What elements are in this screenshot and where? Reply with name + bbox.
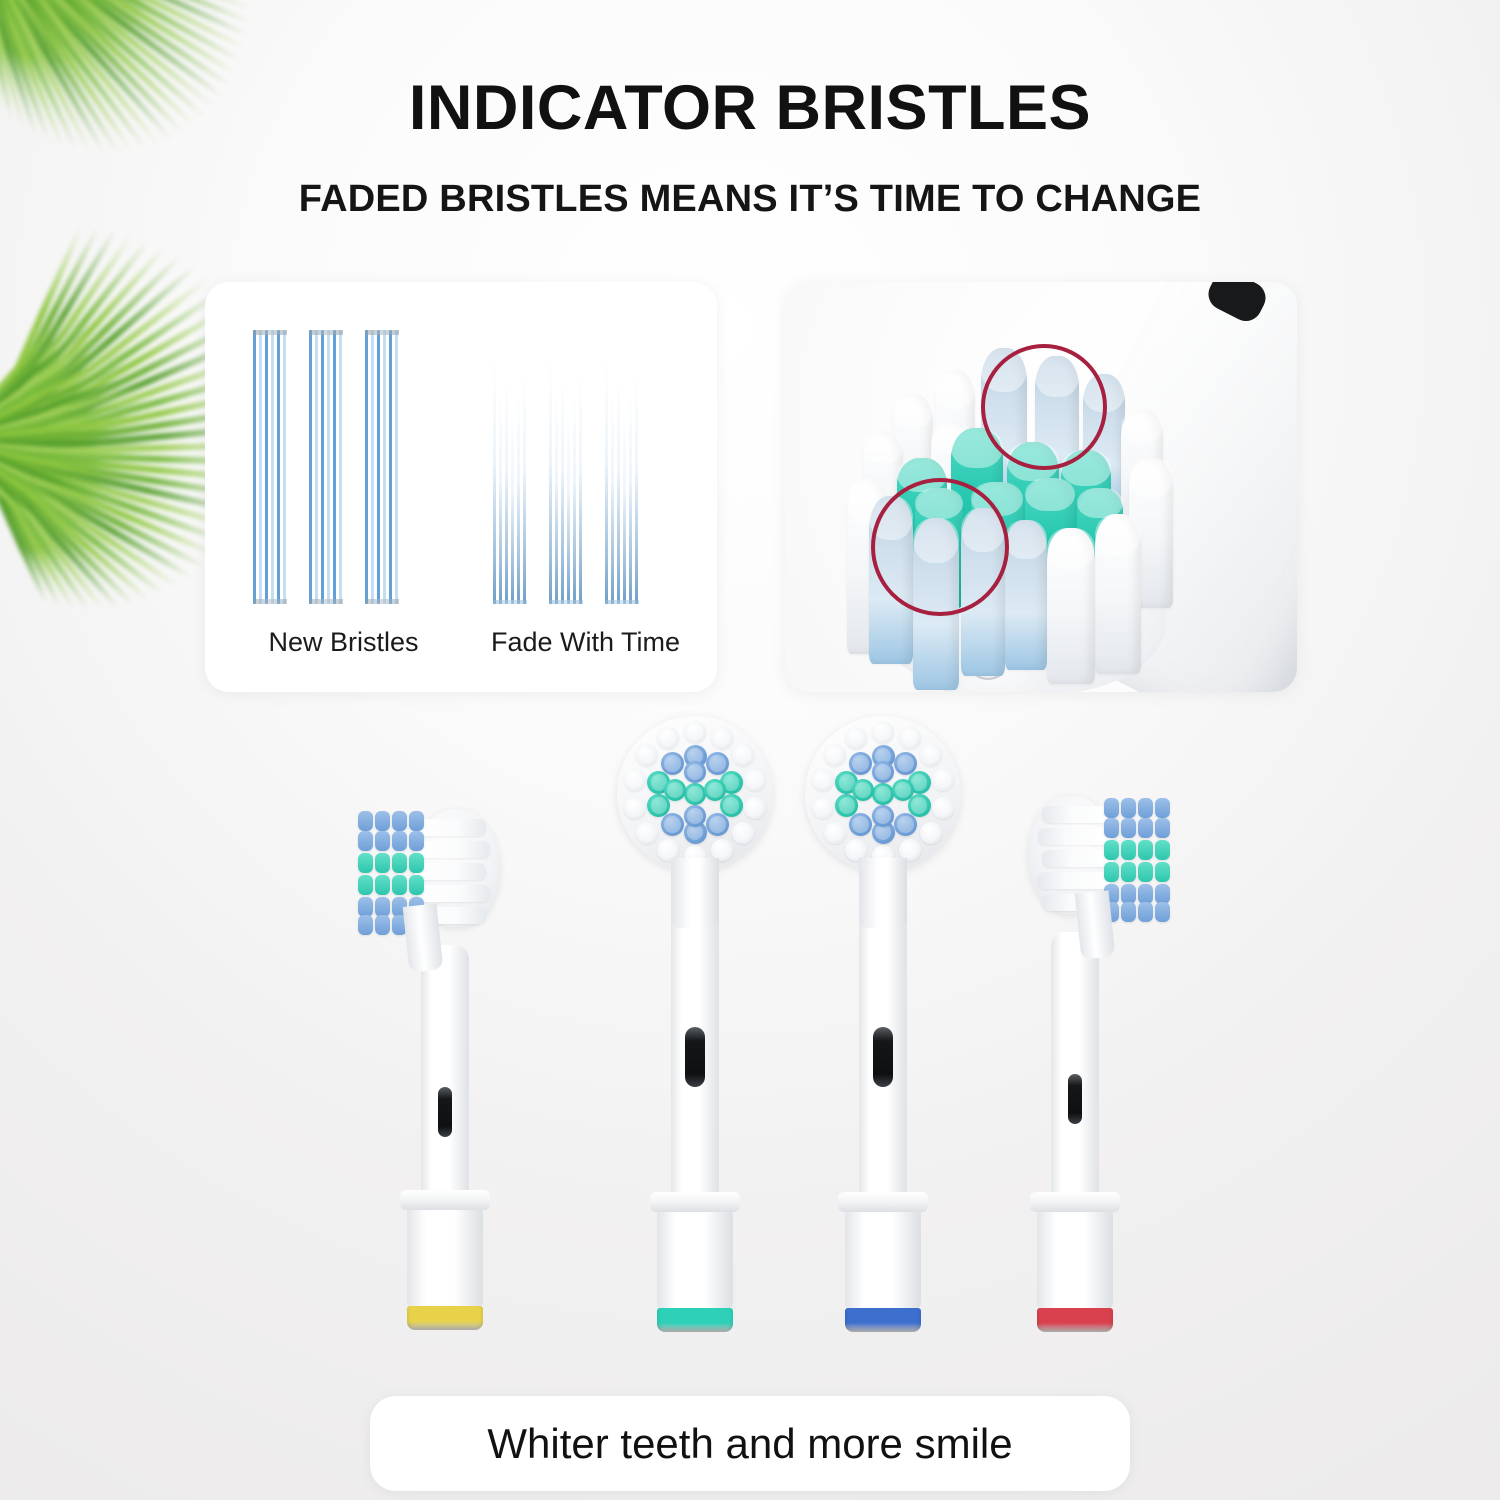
bristle-tuft [1104, 818, 1119, 838]
palm-frond-blade [0, 235, 153, 455]
brush-indicator-slot [438, 1087, 452, 1137]
bristle-tuft [1121, 840, 1136, 860]
palm-frond-blade [0, 0, 155, 10]
bristle-tuft [1155, 862, 1170, 882]
bristle-comparison-card: New Bristles Fade With Time [205, 282, 717, 692]
faded-bristle-group [549, 330, 593, 604]
bristle-base [493, 600, 527, 604]
palm-frond-blade [0, 0, 92, 61]
bristle-tuft [872, 721, 894, 743]
bristle-tuft [824, 822, 846, 844]
brush-neck [421, 945, 469, 1200]
palm-frond-blade [0, 440, 75, 522]
bristle-tuft [375, 875, 390, 895]
bristle-tuft [852, 779, 874, 801]
bristle [623, 413, 626, 604]
brush-head-macro-card [785, 282, 1297, 692]
bristle-tuft [375, 915, 390, 935]
bristle [505, 376, 508, 604]
bristle-tuft [661, 752, 684, 775]
palm-frond-blade [0, 223, 102, 455]
bristle-tuft [1121, 902, 1136, 922]
palm-frond-blade [0, 440, 154, 446]
bristle [309, 330, 312, 604]
palm-frond-blade [0, 440, 134, 485]
bristle [315, 330, 318, 604]
palm-frond-blade [0, 0, 112, 57]
tagline-text: Whiter teeth and more smile [370, 1420, 1130, 1468]
palm-frond-blade [0, 368, 149, 446]
palm-frond-blade [0, 450, 233, 546]
faded-bristles-illustration [493, 330, 673, 604]
brush-lower-barrel [407, 1210, 483, 1310]
bristle-base [605, 600, 639, 604]
brush-indicator-slot [873, 1027, 893, 1087]
bristle-tuft [358, 811, 373, 831]
new-bristle-group [365, 330, 409, 604]
brush-head-stem [859, 858, 907, 928]
bristle-tuft [664, 779, 686, 801]
palm-frond-blade [0, 441, 62, 526]
bristle [517, 394, 520, 604]
tagline-banner: Whiter teeth and more smile [370, 1396, 1130, 1491]
bristle-tuft [392, 875, 407, 895]
palm-frond-blade [0, 0, 253, 40]
bristle [605, 358, 608, 604]
bristle-tuft [1038, 828, 1110, 845]
palm-frond-blade [0, 451, 152, 604]
bristle-tuft [1155, 798, 1170, 818]
bristle [339, 330, 342, 604]
color-ring [1037, 1308, 1113, 1332]
bristle-tuft [358, 897, 373, 917]
palm-frond-blade [0, 440, 124, 496]
bristle-tuft [1095, 514, 1141, 674]
bristle-tuft [624, 797, 646, 819]
bristle-tuft [409, 831, 424, 851]
palm-frond-blade [0, 262, 200, 457]
palm-frond-blade [0, 0, 27, 43]
bristle [321, 330, 324, 604]
palm-frond-blade [0, 452, 92, 614]
bristle [271, 330, 274, 604]
bristle-tuft [392, 853, 407, 873]
bristle-tuft [409, 875, 424, 895]
palm-leaf-icon [0, 0, 370, 290]
new-bristles-illustration [253, 330, 433, 604]
bristle [365, 330, 368, 604]
palm-frond-blade [0, 0, 17, 37]
bristle [327, 330, 330, 604]
bristle-base [253, 599, 287, 604]
bristle-tuft [392, 831, 407, 851]
bristle-tuft [1138, 798, 1153, 818]
bristle [389, 330, 392, 604]
bristle-tuft [375, 853, 390, 873]
bristle-tuft [899, 727, 921, 749]
brush-head-macro-photo [785, 282, 1297, 692]
palm-frond-blade [0, 0, 59, 57]
page-subtitle: FADED BRISTLES MEANS IT’S TIME TO CHANGE [0, 178, 1500, 221]
bristle-tuft [358, 875, 373, 895]
new-bristle-group [309, 330, 353, 604]
bristle-base [365, 599, 399, 604]
bristle-tuft [392, 811, 407, 831]
bristle [493, 358, 496, 604]
bristle-tuft [409, 853, 424, 873]
bristle-tuft [711, 727, 733, 749]
bristle-tuft [1155, 884, 1170, 904]
palm-frond-blade [0, 273, 214, 456]
palm-frond-blade [0, 334, 123, 446]
bristle-tuft [892, 779, 914, 801]
bristle-tuft [414, 819, 486, 836]
bristle [499, 395, 502, 604]
bristle-tuft [704, 779, 726, 801]
palm-frond-blade [0, 226, 120, 456]
palm-frond-blade [0, 440, 113, 505]
bristle-tuft [358, 831, 373, 851]
bristle-tuft [824, 744, 846, 766]
bristle-tuft [418, 841, 490, 858]
bristle [511, 413, 514, 604]
bristle-base [549, 600, 583, 604]
palm-frond-blade [0, 0, 143, 35]
palm-frond-blade [0, 396, 157, 446]
brush-collar [1030, 1192, 1120, 1212]
bristle-tuft [1038, 872, 1110, 889]
bristle-tuft [872, 805, 894, 827]
palm-frond-blade [0, 313, 85, 445]
bristle-tuft [849, 752, 872, 775]
bristle-tuft [706, 813, 729, 836]
palm-frond-blade [0, 0, 48, 54]
bristle-tuft [1121, 818, 1136, 838]
bristle-tuft [418, 885, 490, 902]
brush-collar [650, 1192, 740, 1212]
brush-collar [400, 1190, 490, 1210]
palm-frond-blade [0, 382, 154, 446]
brush-head-yellow [330, 795, 560, 1350]
bristle-tip [309, 330, 343, 335]
palm-frond-blade [0, 0, 81, 61]
bristle-base [309, 599, 343, 604]
brush-indicator-slot [1068, 1074, 1082, 1124]
palm-frond-blade [0, 223, 85, 455]
palm-frond-blade [0, 0, 121, 53]
bristle-tuft [636, 822, 658, 844]
bristle [395, 330, 398, 604]
palm-frond-blade [0, 450, 196, 581]
faded-bristle-group [493, 330, 537, 604]
bristle-tuft [414, 863, 486, 880]
brush-collar [838, 1192, 928, 1212]
palm-frond-blade [0, 0, 70, 60]
bristle-tuft [684, 805, 706, 827]
palm-frond-blade [0, 0, 250, 53]
bristle-tuft [812, 797, 834, 819]
bristle-tuft [1155, 902, 1170, 922]
bristle-tuft [1005, 520, 1047, 670]
bristle [383, 330, 386, 604]
brush-lower-barrel [845, 1212, 921, 1312]
bristle [523, 375, 526, 604]
faded-bristle-group [605, 330, 649, 604]
bristle-tuft [624, 769, 646, 791]
palm-frond-blade [0, 242, 169, 455]
brush-head-red [960, 782, 1190, 1352]
palm-frond-blade [0, 451, 167, 598]
palm-frond-blade [0, 318, 98, 445]
bristle-tuft [894, 813, 917, 836]
bristle-tuft [409, 811, 424, 831]
palm-frond-blade [0, 440, 89, 518]
bristle-tuft [636, 744, 658, 766]
palm-frond-blade [0, 440, 149, 460]
product-infographic: INDICATOR BRISTLES FADED BRISTLES MEANS … [0, 0, 1500, 1500]
palm-frond-blade [0, 441, 49, 527]
palm-frond-blade [0, 0, 129, 48]
brush-head-stem [403, 903, 444, 972]
bristle [635, 375, 638, 604]
bristle-tuft [1104, 798, 1119, 818]
bristle-tuft [684, 721, 706, 743]
palm-frond-blade [0, 452, 64, 609]
palm-frond-blade [0, 451, 137, 609]
bristle-tuft [1138, 902, 1153, 922]
new-bristle-group [253, 330, 297, 604]
bristle [253, 330, 256, 604]
bristle [573, 394, 576, 604]
highlight-circle-icon [981, 344, 1107, 470]
bristle [549, 358, 552, 604]
page-title: INDICATOR BRISTLES [0, 72, 1500, 144]
palm-frond-blade [0, 301, 238, 457]
brush-neck [1051, 932, 1099, 1202]
palm-frond-blade [0, 426, 157, 446]
bristle [567, 413, 570, 604]
bristle [283, 330, 286, 604]
bristle-tuft [684, 783, 706, 805]
brush-lower-barrel [657, 1212, 733, 1312]
bristle [561, 376, 564, 604]
bristle [617, 376, 620, 604]
brush-head-stem [1075, 890, 1116, 959]
palm-frond-blade [0, 411, 158, 446]
palm-frond-blade [0, 0, 254, 12]
bristle-tuft [1138, 884, 1153, 904]
bristle-tuft [872, 783, 894, 805]
bristle [555, 395, 558, 604]
bristle-tuft [1155, 840, 1170, 860]
bristle [333, 330, 336, 604]
bristle-tuft [1121, 798, 1136, 818]
palm-frond-blade [0, 441, 36, 526]
bristle-tuft [812, 769, 834, 791]
palm-frond-blade [0, 230, 137, 456]
bristle [265, 330, 268, 604]
bristle-tuft [358, 853, 373, 873]
bristle-tuft [872, 761, 894, 783]
bristle [371, 330, 374, 604]
brush-lower-barrel [1037, 1212, 1113, 1312]
color-ring [657, 1308, 733, 1332]
palm-frond-blade [0, 355, 142, 445]
bristle-tip [253, 330, 287, 335]
palm-frond-blade [0, 344, 133, 446]
bristle-tuft [1121, 862, 1136, 882]
bristle-tuft [1121, 884, 1136, 904]
bristle-tuft [1138, 840, 1153, 860]
bristle-tuft [1047, 528, 1095, 684]
bristle-tuft [684, 761, 706, 783]
palm-frond-blade [0, 440, 101, 512]
palm-frond-blade [0, 0, 7, 29]
palm-frond-blade [0, 0, 242, 79]
bristle-tip [365, 330, 399, 335]
bristle [579, 375, 582, 604]
bristle-tuft [375, 811, 390, 831]
bristle [629, 394, 632, 604]
palm-frond-blade [0, 0, 148, 28]
highlight-circle-icon [871, 478, 1009, 616]
palm-frond-blade [0, 451, 182, 591]
palm-frond-blade [0, 440, 142, 473]
bristle-tuft [1138, 862, 1153, 882]
bristle-tuft [375, 831, 390, 851]
bristle [611, 395, 614, 604]
palm-frond-blade [0, 450, 209, 571]
color-ring [845, 1308, 921, 1332]
brush-head-stem [671, 858, 719, 928]
bristle-tuft [1155, 818, 1170, 838]
bristle [259, 330, 262, 604]
palm-frond-blade [0, 251, 185, 456]
bristle [377, 330, 380, 604]
fade-with-time-label: Fade With Time [463, 627, 708, 658]
palm-frond-blade [0, 286, 226, 456]
palm-frond-blade [0, 451, 122, 611]
palm-frond-blade [0, 325, 111, 445]
bristle-tuft [358, 915, 373, 935]
palm-frond-blade [0, 450, 222, 559]
palm-frond-blade [0, 0, 247, 66]
palm-frond-blade [0, 451, 107, 613]
brush-indicator-slot [685, 1027, 705, 1087]
bristle-tuft [732, 822, 754, 844]
palm-frond-blade [0, 452, 50, 606]
palm-frond-blade [0, 0, 152, 19]
bristle-tuft [1104, 840, 1119, 860]
color-ring [407, 1306, 483, 1330]
bristle-tuft [375, 897, 390, 917]
bristle [277, 330, 280, 604]
palm-frond-blade [0, 0, 37, 49]
bristle-tuft [1138, 818, 1153, 838]
bristle-tuft [920, 822, 942, 844]
palm-frond-blade [0, 0, 137, 42]
bristle-tuft [1104, 862, 1119, 882]
palm-frond-blade [0, 0, 102, 59]
new-bristles-label: New Bristles [241, 627, 446, 658]
palm-frond-blade [0, 310, 70, 445]
palm-frond-blade [0, 452, 78, 612]
palm-frond-blade [0, 0, 254, 26]
